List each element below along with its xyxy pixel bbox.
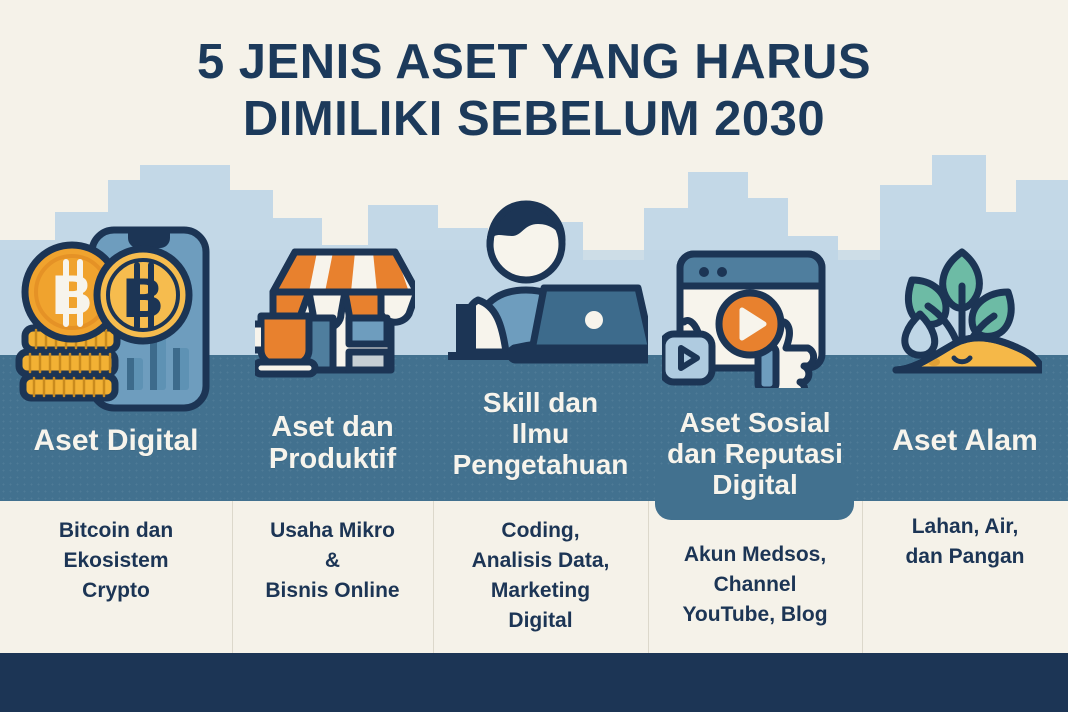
desc-line: Ekosistem — [8, 546, 224, 576]
desc-line: & — [240, 546, 425, 576]
desc-line: Lahan, Air, — [870, 512, 1060, 542]
label-line: Ilmu — [433, 419, 648, 450]
column-description: Lahan, Air, dan Pangan — [862, 512, 1068, 572]
column-divider — [433, 501, 434, 653]
desc-line: Analisis Data, — [441, 546, 640, 576]
desc-line: dan Pangan — [870, 542, 1060, 572]
browser-play-thumbsup-icon — [662, 248, 848, 388]
desc-line: Akun Medsos, — [656, 540, 854, 570]
column-divider — [862, 501, 863, 653]
desc-line: Crypto — [8, 576, 224, 606]
desc-line: Coding, — [441, 516, 640, 546]
label-line: Aset Alam — [892, 424, 1038, 457]
column-divider — [232, 501, 233, 653]
desc-line: YouTube, Blog — [656, 600, 854, 630]
label-line: Produktif — [232, 444, 433, 476]
infographic-poster: 5 JENIS ASET YANG HARUS DIMILIKI SEBELUM… — [0, 0, 1068, 712]
column-label: Aset Alam — [862, 424, 1068, 457]
svg-text:B: B — [123, 266, 163, 329]
column-label: Aset Sosial dan Reputasi Digital — [648, 408, 862, 500]
column-description: Usaha Mikro & Bisnis Online — [232, 516, 433, 606]
svg-text:B: B — [52, 263, 92, 326]
desc-line: Usaha Mikro — [240, 516, 425, 546]
desc-line: Bitcoin dan — [8, 516, 224, 546]
label-line: dan Reputasi — [648, 439, 862, 470]
desc-line: Channel — [656, 570, 854, 600]
label-line: Digital — [648, 470, 862, 501]
desc-line: Digital — [441, 606, 640, 636]
column-description: Bitcoin dan Ekosistem Crypto — [0, 516, 232, 606]
column-divider — [648, 501, 649, 653]
column-description: Akun Medsos, Channel YouTube, Blog — [648, 540, 862, 630]
column-label: Aset Digital — [0, 424, 232, 457]
column-label: Skill dan Ilmu Pengetahuan — [433, 388, 648, 480]
desc-line: Bisnis Online — [240, 576, 425, 606]
label-line: Skill dan — [433, 388, 648, 419]
column-description: Coding, Analisis Data, Marketing Digital — [433, 516, 648, 636]
column-label: Aset dan Produktif — [232, 412, 433, 476]
label-line: Aset dan — [232, 412, 433, 444]
storefront-coffee-cup-icon — [255, 226, 415, 381]
plant-waterdrop-soil-icon — [878, 246, 1042, 392]
label-line: Aset Sosial — [648, 408, 862, 439]
label-line: Pengetahuan — [433, 450, 648, 481]
label-line: Aset Digital — [33, 424, 198, 457]
desc-line: Marketing — [441, 576, 640, 606]
person-laptop-icon — [448, 196, 648, 366]
bitcoin-coins-phone-chart-icon: B B — [6, 222, 226, 422]
